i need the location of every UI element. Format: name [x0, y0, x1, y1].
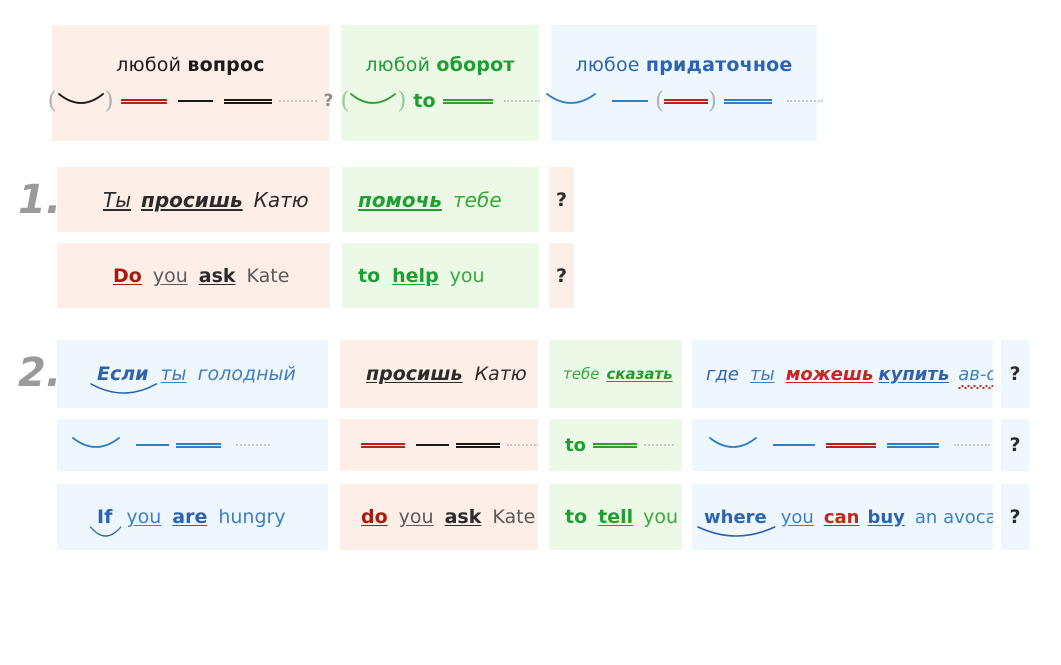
word: you [153, 265, 188, 287]
word: buy [867, 507, 904, 528]
diagram-word-to: to [565, 435, 586, 456]
line-dots [279, 100, 317, 102]
word: an avocado [915, 507, 993, 528]
cell-diagram-2-1 [57, 419, 328, 471]
cell-diagram-2-2 [340, 419, 538, 471]
word: тебе [563, 365, 599, 383]
line-blue-single [612, 100, 648, 102]
word-run: Ты просишь Катю [103, 188, 309, 212]
line-red-double [361, 443, 405, 448]
worksheet-page: любой вопрос ( ) ? любой оборот [0, 0, 1061, 665]
cell-ru-2-4[interactable]: где ты можешь купить ав-о [692, 340, 993, 408]
word: тебе [453, 188, 502, 212]
word: где [706, 364, 739, 385]
question-mark: ? [1009, 506, 1020, 528]
word-run: to tell you [565, 506, 678, 528]
header-title-plain: любой [365, 54, 430, 76]
word: просишь [366, 363, 463, 385]
header-title-bold: придаточное [646, 54, 793, 76]
word: купить [878, 364, 949, 385]
paren-open-icon: ( [48, 90, 57, 113]
swoosh-icon [57, 92, 105, 110]
line-blue-double [724, 99, 772, 104]
header-card-subordinate: любое придаточное ( ) [551, 25, 817, 141]
line-dots [236, 444, 270, 446]
cell-mark-1-1[interactable]: ? [549, 167, 574, 232]
word: Ты [103, 188, 131, 212]
word: Если [97, 363, 148, 385]
word-run: to help you [358, 265, 485, 287]
word: ты [160, 363, 186, 385]
line-green-double [443, 99, 493, 104]
paren-close-icon: ) [708, 90, 717, 113]
word: сказать [606, 365, 672, 383]
word: помочь [358, 188, 442, 212]
word-run: where you can buy an avocado [704, 507, 993, 528]
word: help [392, 265, 439, 287]
question-mark: ? [556, 265, 567, 287]
line-black-double [456, 443, 500, 448]
line-red-double [826, 443, 876, 448]
word: Do [113, 265, 142, 287]
cell-ru-2-1[interactable]: Если ты голодный [57, 340, 328, 408]
cell-mark-1-2[interactable]: ? [549, 243, 574, 308]
word-run: просишь Катю [366, 363, 527, 385]
line-blue-single [773, 444, 815, 446]
line-dots [504, 100, 540, 102]
question-mark: ? [1009, 434, 1020, 456]
word: you [781, 507, 814, 528]
word: you [126, 506, 161, 528]
word: are [172, 506, 207, 528]
question-mark: ? [556, 189, 567, 211]
header-question-mark: ? [324, 91, 334, 111]
line-black-double [224, 99, 272, 104]
swoosh-icon [349, 92, 397, 110]
diagram: to [565, 435, 674, 456]
header-title-bold: оборот [436, 54, 514, 76]
word: Катю [475, 363, 527, 385]
section-number-1: 1. [18, 180, 61, 220]
word: ты [750, 364, 775, 385]
word: If [97, 506, 112, 528]
header-diagram-infinitive: ( ) to [340, 90, 539, 113]
line-dots [787, 100, 823, 102]
word-run: Do you ask Kate [113, 265, 289, 287]
paren-open-icon: ( [340, 90, 349, 113]
swoosh-icon [90, 526, 121, 542]
line-blue-single [136, 444, 169, 446]
paren-close-icon: ) [397, 90, 406, 113]
word: where [704, 507, 767, 528]
word: можешь [786, 364, 874, 385]
word-run: тебе сказать [563, 365, 673, 383]
word-run: помочь тебе [358, 188, 502, 212]
cell-diagram-2-3: to [549, 419, 682, 471]
cell-mark-2-3[interactable]: ? [1001, 484, 1029, 550]
line-dots [644, 444, 674, 446]
swoosh-icon [545, 92, 597, 110]
section-number-2: 2. [18, 353, 61, 393]
word: hungry [218, 506, 285, 528]
cell-en-1-2[interactable]: to help you [342, 243, 539, 308]
swoosh-icon [90, 383, 157, 399]
cell-mark-2-1[interactable]: ? [1001, 340, 1029, 408]
swoosh-icon [697, 526, 776, 542]
paren-open-icon: ( [655, 90, 664, 113]
line-dots [507, 444, 538, 446]
line-dots [954, 444, 990, 446]
word-run: If you are hungry [97, 506, 286, 528]
word: you [399, 506, 434, 528]
word-run: Если ты голодный [97, 363, 296, 385]
header-diagram-subordinate: ( ) [545, 90, 823, 113]
line-black-single [416, 444, 449, 446]
diagram [71, 436, 270, 454]
header-card-infinitive: любой оборот ( ) to [341, 25, 539, 141]
cell-en-2-2[interactable]: do you ask Kate [340, 484, 538, 550]
cell-mark-2-2[interactable]: ? [1001, 419, 1029, 471]
word: ask [445, 506, 482, 528]
header-title-subordinate: любое придаточное [575, 54, 792, 76]
word: просишь [141, 188, 243, 212]
word: you [643, 506, 678, 528]
word: Kate [492, 506, 535, 528]
diagram [361, 443, 538, 448]
header-title-question: любой вопрос [116, 54, 264, 76]
word: Kate [247, 265, 290, 287]
word: you [450, 265, 485, 287]
cell-ru-2-3[interactable]: тебе сказать [549, 340, 682, 408]
header-title-bold: вопрос [187, 54, 264, 76]
header-title-plain: любой [116, 54, 181, 76]
diagram [708, 436, 990, 454]
header-title-plain: любое [575, 54, 639, 76]
cell-ru-2-2[interactable]: просишь Катю [340, 340, 538, 408]
word: ask [199, 265, 236, 287]
word: can [824, 507, 860, 528]
cell-en-2-4[interactable]: where you can buy an avocado [692, 484, 993, 550]
word-run: do you ask Kate [361, 506, 535, 528]
cell-en-2-3[interactable]: to tell you [549, 484, 682, 550]
line-black-single [178, 100, 213, 102]
cell-ru-1-1[interactable]: Ты просишь Катю [57, 167, 330, 232]
header-word-to: to [413, 90, 435, 112]
cell-diagram-2-4 [692, 419, 993, 471]
header-card-question: любой вопрос ( ) ? [52, 25, 329, 141]
line-blue-double [176, 443, 221, 448]
word: tell [598, 506, 633, 528]
line-blue-double [887, 443, 939, 448]
cell-ru-1-2[interactable]: помочь тебе [342, 167, 539, 232]
swoosh-icon [708, 436, 758, 454]
word: to [565, 506, 587, 528]
cell-en-2-1[interactable]: If you are hungry [57, 484, 328, 550]
header-title-infinitive: любой оборот [365, 54, 514, 76]
line-red-double [121, 99, 167, 104]
word: ав-о [958, 364, 993, 385]
word: Катю [254, 188, 309, 212]
cell-en-1-1[interactable]: Do you ask Kate [57, 243, 330, 308]
word: to [358, 265, 380, 287]
paren-close-icon: ) [105, 90, 114, 113]
header-diagram-question: ( ) ? [48, 90, 334, 113]
line-green-double [593, 443, 637, 448]
line-red-double [664, 99, 708, 104]
question-mark: ? [1009, 363, 1020, 385]
word-run: где ты можешь купить ав-о [706, 364, 993, 385]
swoosh-icon [71, 436, 121, 454]
word: do [361, 506, 388, 528]
word: голодный [198, 363, 296, 385]
